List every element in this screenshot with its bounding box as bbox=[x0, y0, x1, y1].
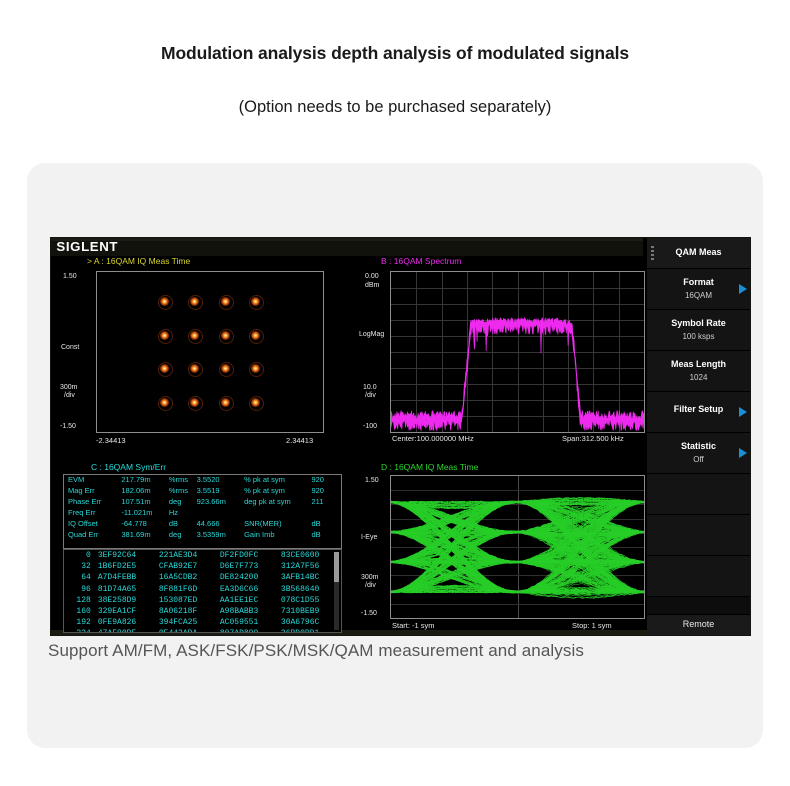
panel-d-y-top: 1.50 bbox=[365, 477, 379, 486]
hex-row: 03EF92C64221AE3D4DF2FD0FC83CE0600 bbox=[64, 550, 341, 561]
panel-symerr[interactable]: C : 16QAM Sym/Err EVM217.79m%rms3.5520% … bbox=[51, 462, 347, 635]
hex-row-word: AA1EE1EC bbox=[219, 595, 280, 606]
error-row: Freq Err-11.021mHz bbox=[64, 508, 341, 519]
hex-row: 12838E258D9153087EDAA1EE1EC078C1D55 bbox=[64, 595, 341, 606]
panel-a-y-div-unit: /div bbox=[64, 392, 75, 401]
hex-row-word: 221AE3D4 bbox=[158, 550, 219, 561]
hex-row-index: 192 bbox=[64, 617, 97, 628]
panel-b-y-top: 0.00 bbox=[365, 273, 379, 282]
panel-a-y-top: 1.50 bbox=[63, 273, 77, 282]
hex-row-word: 153087ED bbox=[158, 595, 219, 606]
error-row-unit: %rms bbox=[169, 475, 197, 486]
panel-d-x-left: Start: -1 sym bbox=[392, 621, 435, 630]
error-row: Mag Err182.06m%rms3.5519% pk at sym920 bbox=[64, 486, 341, 497]
constellation-point bbox=[160, 398, 169, 407]
hex-row: 64A7D4FEBB16A5CDB2DE8242003AFB14BC bbox=[64, 572, 341, 583]
hex-row-word: 3EF92C64 bbox=[97, 550, 158, 561]
error-row-value: 217.79m bbox=[121, 475, 169, 486]
error-row-sym: 920 bbox=[311, 486, 341, 497]
softkey-label: Symbol Rate bbox=[647, 318, 750, 329]
error-row-name: Phase Err bbox=[64, 497, 121, 508]
softkey-item-symbol-rate[interactable]: Symbol Rate100 ksps bbox=[647, 310, 750, 351]
remote-status-bar: Remote bbox=[647, 614, 750, 635]
softkey-value: 1024 bbox=[647, 372, 750, 383]
hex-row-word: 8F881F6D bbox=[158, 584, 219, 595]
hex-row-word: 312A7F56 bbox=[280, 561, 341, 572]
hex-row-word: EA3D6C66 bbox=[219, 584, 280, 595]
error-summary-table: EVM217.79m%rms3.5520% pk at sym920Mag Er… bbox=[63, 474, 342, 549]
hex-row-word: 3AFB14BC bbox=[280, 572, 341, 583]
softkey-label: Filter Setup bbox=[647, 404, 750, 415]
hex-row-word: D6E7F773 bbox=[219, 561, 280, 572]
symbol-hex-table[interactable]: 03EF92C64221AE3D4DF2FD0FC83CE0600321B6FD… bbox=[63, 549, 342, 633]
hex-row: 321B6FD2E5CFAB92E7D6E7F773312A7F56 bbox=[64, 561, 341, 572]
constellation-point bbox=[251, 331, 260, 340]
softkey-item-meas-length[interactable]: Meas Length1024 bbox=[647, 351, 750, 392]
page-root: Modulation analysis depth analysis of mo… bbox=[0, 0, 790, 786]
panel-d-x-right: Stop: 1 sym bbox=[572, 621, 612, 630]
error-row-sym: 920 bbox=[311, 475, 341, 486]
error-row-value: -11.021m bbox=[121, 508, 169, 519]
error-row-unit: deg bbox=[169, 530, 197, 541]
hex-row-index: 224 bbox=[64, 628, 97, 633]
hex-row-word: 0E443ADA bbox=[158, 628, 219, 633]
hex-row-index: 160 bbox=[64, 606, 97, 617]
constellation-point bbox=[160, 297, 169, 306]
error-row-peak: 3.5520 bbox=[197, 475, 244, 486]
menu-header-label: QAM Meas bbox=[647, 247, 750, 257]
error-row-peak-label bbox=[244, 508, 311, 519]
hex-row-word: 81D74A65 bbox=[97, 584, 158, 595]
panel-b-y-name: LogMag bbox=[359, 331, 384, 340]
panel-b-title: B : 16QAM Spectrum bbox=[381, 256, 461, 266]
panel-a-x-right: 2.34413 bbox=[286, 436, 313, 445]
panel-d-title: D : 16QAM IQ Meas Time bbox=[381, 462, 478, 472]
siglent-logo: SIGLENT bbox=[56, 239, 118, 254]
hex-row-index: 128 bbox=[64, 595, 97, 606]
softkey-menu: QAM Meas Format16QAMSymbol Rate100 kspsM… bbox=[647, 238, 750, 635]
chevron-right-icon bbox=[739, 448, 747, 458]
error-row-value: -64.778 bbox=[121, 519, 169, 530]
constellation-point bbox=[221, 331, 230, 340]
softkey-item-empty-5[interactable] bbox=[647, 474, 750, 515]
chevron-right-icon bbox=[739, 407, 747, 417]
error-row: Phase Err107.51mdeg923.66mdeg pk at sym2… bbox=[64, 497, 341, 508]
error-row-name: IQ Offset bbox=[64, 519, 121, 530]
hex-row-word: 0FE9A826 bbox=[97, 617, 158, 628]
hex-row-word: 83CE0600 bbox=[280, 550, 341, 561]
error-row-sym: 211 bbox=[311, 497, 341, 508]
eye-trace bbox=[391, 476, 644, 618]
softkey-value: 100 ksps bbox=[647, 331, 750, 342]
panel-a-x-left: -2.34413 bbox=[96, 436, 126, 445]
hex-row-word: A7D4FEBB bbox=[97, 572, 158, 583]
panel-b-y-top-unit: dBm bbox=[365, 282, 379, 291]
hex-row-word: 394FCA25 bbox=[158, 617, 219, 628]
error-row-name: Freq Err bbox=[64, 508, 121, 519]
error-row-unit: dB bbox=[169, 519, 197, 530]
panel-a-y-name: Const bbox=[61, 344, 79, 353]
instrument-screen: SIGLENT > A : 16QAM IQ Meas Time 1.50 Co… bbox=[51, 238, 750, 635]
error-row-peak: 3.5359m bbox=[197, 530, 244, 541]
topbar-accent bbox=[51, 238, 643, 241]
hex-scrollbar-thumb[interactable] bbox=[334, 552, 339, 582]
softkey-item-format[interactable]: Format16QAM bbox=[647, 269, 750, 310]
hex-row-word: 1B6FD2E5 bbox=[97, 561, 158, 572]
softkey-label: Format bbox=[647, 277, 750, 288]
instrument-topbar: SIGLENT bbox=[51, 238, 643, 256]
constellation-point bbox=[221, 398, 230, 407]
menu-header[interactable]: QAM Meas bbox=[647, 238, 750, 269]
softkey-item-filter-setup[interactable]: Filter Setup bbox=[647, 392, 750, 433]
panel-a-title: > A : 16QAM IQ Meas Time bbox=[87, 256, 190, 266]
hex-row-word: CFAB92E7 bbox=[158, 561, 219, 572]
error-row-name: Mag Err bbox=[64, 486, 121, 497]
error-row-peak: 44.666 bbox=[197, 519, 244, 530]
panel-b-x-left: Center:100.000000 MHz bbox=[392, 434, 474, 443]
hex-row: 22447AF90DF0E443ADA807AD89936BD0DD1 bbox=[64, 628, 341, 633]
constellation-point bbox=[190, 297, 199, 306]
error-table: EVM217.79m%rms3.5520% pk at sym920Mag Er… bbox=[64, 475, 341, 541]
spectrum-trace bbox=[391, 272, 644, 432]
error-row-sym bbox=[311, 508, 341, 519]
constellation-plot[interactable] bbox=[96, 271, 324, 433]
error-row-peak: 923.66m bbox=[197, 497, 244, 508]
hex-row-word: 807AD899 bbox=[219, 628, 280, 633]
constellation-point bbox=[190, 331, 199, 340]
error-row: EVM217.79m%rms3.5520% pk at sym920 bbox=[64, 475, 341, 486]
error-row-value: 381.69m bbox=[121, 530, 169, 541]
error-row-peak-label: Gain Imb bbox=[244, 530, 311, 541]
hex-row-index: 96 bbox=[64, 584, 97, 595]
error-row-unit: %rms bbox=[169, 486, 197, 497]
error-row-peak-label: SNR(MER) bbox=[244, 519, 311, 530]
panel-d-y-bottom: -1.50 bbox=[361, 610, 377, 619]
panel-spectrum[interactable]: B : 16QAM Spectrum 0.00 dBm LogMag 10.0 … bbox=[359, 256, 647, 462]
softkey-label: Statistic bbox=[647, 441, 750, 452]
constellation-point bbox=[160, 331, 169, 340]
softkey-value: 16QAM bbox=[647, 290, 750, 301]
hex-row-index: 0 bbox=[64, 550, 97, 561]
error-row: Quad Err381.69mdeg3.5359mGain ImbdB bbox=[64, 530, 341, 541]
eye-plot[interactable] bbox=[390, 475, 645, 619]
hex-row-word: 38E258D9 bbox=[97, 595, 158, 606]
hex-row: 160329EA1CF8A06218FA98BABB37310BEB9 bbox=[64, 606, 341, 617]
hex-row-word: 3B568640 bbox=[280, 584, 341, 595]
hex-row-word: 36BD0DD1 bbox=[280, 628, 341, 633]
spectrum-plot[interactable] bbox=[390, 271, 645, 433]
error-row-peak-label: deg pk at sym bbox=[244, 497, 311, 508]
hex-row-word: 47AF90DF bbox=[97, 628, 158, 633]
panel-d-y-name: I-Eye bbox=[361, 534, 377, 543]
panel-eye-diagram[interactable]: D : 16QAM IQ Meas Time 1.50 I-Eye 300m /… bbox=[359, 462, 647, 635]
softkey-label: Meas Length bbox=[647, 359, 750, 370]
error-row-peak: 3.5519 bbox=[197, 486, 244, 497]
error-row-sym: dB bbox=[311, 530, 341, 541]
page-subtitle: (Option needs to be purchased separately… bbox=[0, 98, 790, 117]
heading-block: Modulation analysis depth analysis of mo… bbox=[0, 0, 790, 117]
error-row-peak bbox=[197, 508, 244, 519]
constellation-point bbox=[221, 297, 230, 306]
hex-row-word: 8A06218F bbox=[158, 606, 219, 617]
hex-row-index: 32 bbox=[64, 561, 97, 572]
error-row-peak-label: % pk at sym bbox=[244, 475, 311, 486]
panel-b-y-div-unit: /div bbox=[365, 392, 376, 401]
error-row-name: EVM bbox=[64, 475, 121, 486]
error-row-value: 182.06m bbox=[121, 486, 169, 497]
hex-row: 1920FE9A826394FCA25AC05955130A6796C bbox=[64, 617, 341, 628]
remote-status-label: Remote bbox=[647, 619, 750, 629]
error-row-unit: deg bbox=[169, 497, 197, 508]
hex-row-word: 329EA1CF bbox=[97, 606, 158, 617]
hex-row-word: A98BABB3 bbox=[219, 606, 280, 617]
error-row-name: Quad Err bbox=[64, 530, 121, 541]
panel-a-y-bottom: -1.50 bbox=[60, 423, 76, 432]
card-caption: Support AM/FM, ASK/FSK/PSK/MSK/QAM measu… bbox=[48, 641, 748, 661]
softkey-item-empty-6[interactable] bbox=[647, 515, 750, 556]
panel-constellation[interactable]: > A : 16QAM IQ Meas Time 1.50 Const 300m… bbox=[51, 256, 347, 462]
hex-row: 9681D74A658F881F6DEA3D6C663B568640 bbox=[64, 584, 341, 595]
hex-row-word: 30A6796C bbox=[280, 617, 341, 628]
hex-row-word: DE824200 bbox=[219, 572, 280, 583]
hex-row-word: 078C1D55 bbox=[280, 595, 341, 606]
softkey-item-empty-7[interactable] bbox=[647, 556, 750, 597]
hex-row-word: AC059551 bbox=[219, 617, 280, 628]
panel-b-y-bottom: -100 bbox=[363, 423, 377, 432]
hex-table: 03EF92C64221AE3D4DF2FD0FC83CE0600321B6FD… bbox=[64, 550, 341, 633]
hex-row-index: 64 bbox=[64, 572, 97, 583]
panel-b-x-right: Span:312.500 kHz bbox=[562, 434, 624, 443]
softkey-value: Off bbox=[647, 454, 750, 465]
panel-d-y-div-unit: /div bbox=[365, 582, 376, 591]
hex-row-word: 16A5CDB2 bbox=[158, 572, 219, 583]
error-row-peak-label: % pk at sym bbox=[244, 486, 311, 497]
error-row-sym: dB bbox=[311, 519, 341, 530]
panel-c-title: C : 16QAM Sym/Err bbox=[91, 462, 166, 472]
hex-row-word: DF2FD0FC bbox=[219, 550, 280, 561]
page-title: Modulation analysis depth analysis of mo… bbox=[0, 43, 790, 64]
softkey-item-statistic[interactable]: StatisticOff bbox=[647, 433, 750, 474]
error-row: IQ Offset-64.778dB44.666SNR(MER)dB bbox=[64, 519, 341, 530]
error-row-value: 107.51m bbox=[121, 497, 169, 508]
chevron-right-icon bbox=[739, 284, 747, 294]
error-row-unit: Hz bbox=[169, 508, 197, 519]
hex-row-word: 7310BEB9 bbox=[280, 606, 341, 617]
